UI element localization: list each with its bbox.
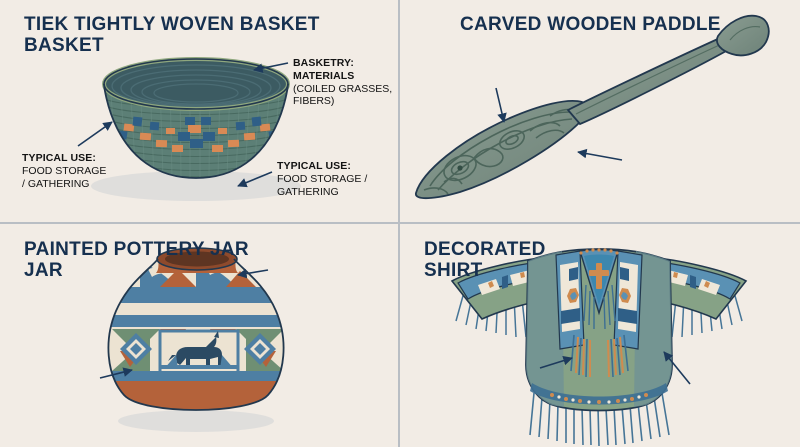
callout-heading: TYPICAL USE: [22, 152, 142, 165]
artifact-infographic: TIEK TIGHTLY WOVEN BASKET BASKET BASKETR… [0, 0, 800, 447]
callout-body: FOOD STORAGE / GATHERING [277, 173, 397, 199]
panel-title-shirt: DECORATED SHIRT [424, 239, 624, 282]
panel-title-paddle: CARVED WOODEN PADDLE [460, 14, 790, 35]
callout-basket-materials: BASKETRY: MATERIALS (COILED GRASSES, FIB… [293, 57, 398, 108]
panel-jar: PAINTED POTTERY JAR JAR TYPICAL USE: WAT… [0, 225, 398, 447]
panel-title-basket: TIEK TIGHTLY WOVEN BASKET BASKET [24, 14, 374, 57]
horizontal-divider [0, 222, 800, 224]
panel-shirt: DECORATED SHIRT TEXTILES / LEATHER: MATE… [400, 225, 798, 447]
callout-basket-use-left: TYPICAL USE: FOOD STORAGE / GATHERING [22, 152, 142, 190]
panel-title-jar: PAINTED POTTERY JAR JAR [24, 239, 374, 282]
callout-body: (COILED GRASSES, FIBERS) [293, 83, 398, 109]
callout-heading: TYPICAL USE: [277, 160, 397, 173]
callout-body: FOOD STORAGE / GATHERING [22, 165, 142, 191]
panel-basket: TIEK TIGHTLY WOVEN BASKET BASKET BASKETR… [0, 0, 398, 222]
callout-heading: BASKETRY: MATERIALS [293, 57, 398, 83]
panel-paddle: CARVED WOODEN PADDLE CARVING: MATERIALS … [400, 0, 798, 222]
callout-basket-use-right: TYPICAL USE: FOOD STORAGE / GATHERING [277, 160, 397, 198]
